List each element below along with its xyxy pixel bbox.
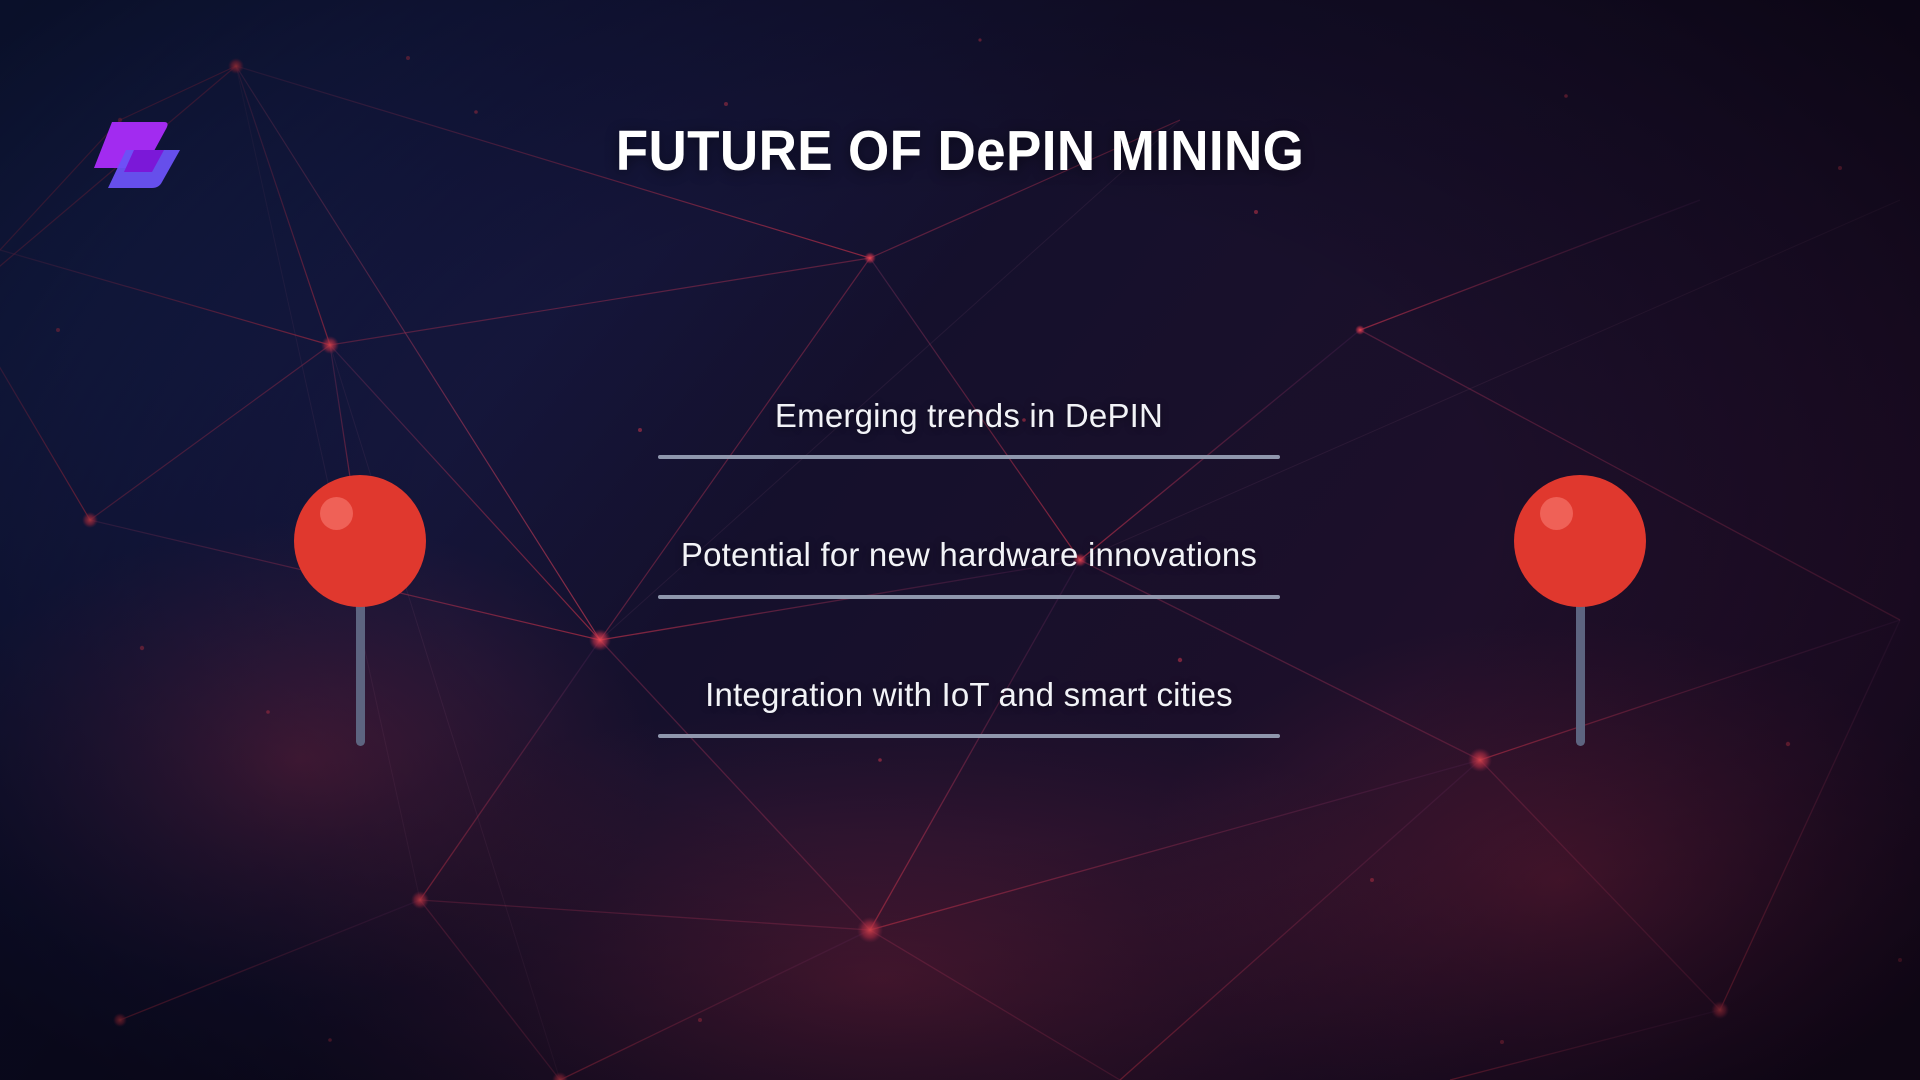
bullet-label: Potential for new hardware innovations [658, 534, 1280, 594]
bullet-label: Emerging trends in DePIN [658, 395, 1280, 455]
presentation-slide: FUTURE OF DePIN MINING Emerging trends i… [0, 0, 1920, 1080]
map-pin-highlight-dot [320, 497, 353, 530]
bullet-divider [658, 455, 1280, 459]
list-item[interactable]: Emerging trends in DePIN [658, 395, 1280, 459]
map-pin-stem [1576, 601, 1585, 746]
bullet-divider [658, 595, 1280, 599]
list-item[interactable]: Integration with IoT and smart cities [658, 674, 1280, 738]
bullet-divider [658, 734, 1280, 738]
bullet-list: Emerging trends in DePIN Potential for n… [658, 395, 1280, 738]
map-pin-left [294, 475, 426, 746]
map-pin-head-icon [1514, 475, 1646, 607]
page-title: FUTURE OF DePIN MINING [67, 118, 1853, 184]
map-pin-right [1514, 475, 1646, 746]
map-pin-highlight-dot [1540, 497, 1573, 530]
map-pin-head-icon [294, 475, 426, 607]
bullet-label: Integration with IoT and smart cities [658, 674, 1280, 734]
map-pin-stem [356, 601, 365, 746]
list-item[interactable]: Potential for new hardware innovations [658, 534, 1280, 598]
